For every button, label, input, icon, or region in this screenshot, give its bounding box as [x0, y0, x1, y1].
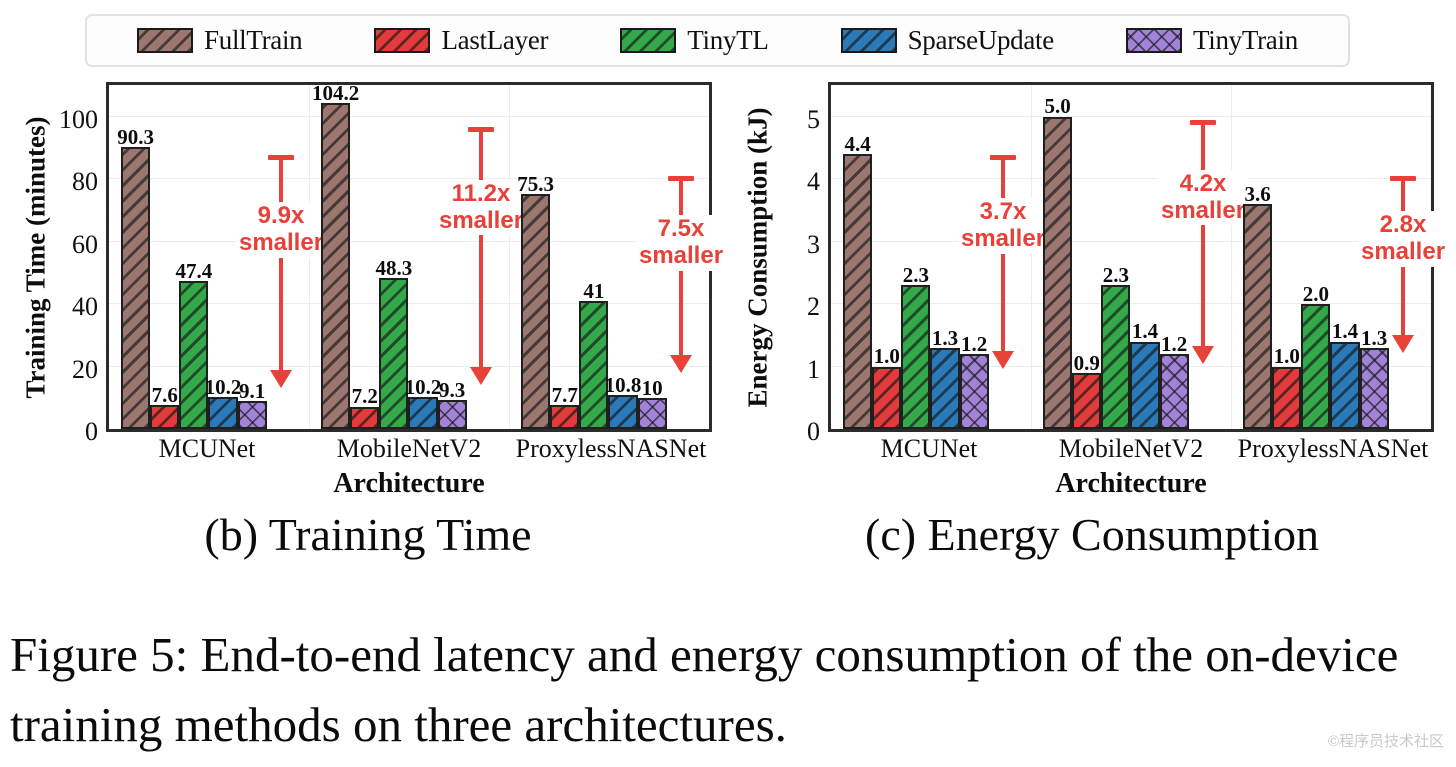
bar-sparseupdate-mobilenetv2[interactable]: 10.2	[408, 397, 437, 429]
annotation-arrowhead-icon	[670, 355, 692, 373]
x-axis-label-c: Architecture	[828, 468, 1434, 500]
x-tick-label-mcunet: MCUNet	[106, 434, 308, 468]
annotation-arrowhead-icon	[270, 370, 292, 388]
y-tick-label: 40	[72, 292, 98, 322]
bar-groups: 4.41.02.31.31.23.7xsmaller5.00.92.31.41.…	[831, 85, 1431, 429]
x-tick-label-mobilenetv2: MobileNetV2	[1030, 434, 1232, 468]
bar-lastlayer-mobilenetv2[interactable]: 0.9	[1072, 373, 1101, 429]
bar-value-label: 41	[583, 280, 604, 302]
bar-value-label: 9.1	[239, 380, 265, 402]
y-axis-label-text-b: Training Time (minutes)	[21, 116, 52, 398]
y-tick-label: 4	[807, 167, 820, 197]
annotation-arrowhead-icon	[992, 351, 1014, 369]
y-tick-label: 5	[807, 105, 820, 135]
annotation-factor: 2.8x	[1361, 212, 1445, 239]
y-tick-label: 80	[72, 167, 98, 197]
legend-label: LastLayer	[441, 25, 548, 56]
bar-tinytl-proxylessnasnet[interactable]: 41	[579, 301, 608, 429]
bar-value-label: 2.0	[1303, 283, 1329, 305]
legend-swatch-icon-tinytrain	[1126, 28, 1182, 53]
legend-item-tinytrain[interactable]: TinyTrain	[1126, 25, 1298, 56]
bar-value-label: 1.3	[932, 327, 958, 349]
bar-tinytrain-proxylessnasnet[interactable]: 1.3	[1360, 348, 1389, 429]
bar-lastlayer-proxylessnasnet[interactable]: 1.0	[1272, 367, 1301, 430]
bar-fulltrain-mcunet[interactable]: 4.4	[843, 154, 872, 429]
bar-tinytl-proxylessnasnet[interactable]: 2.0	[1301, 304, 1330, 429]
annotation-stem	[479, 127, 483, 367]
bar-value-label: 47.4	[175, 260, 212, 282]
annotation-factor: 7.5x	[639, 216, 723, 243]
bar-tinytrain-proxylessnasnet[interactable]: 10	[638, 398, 667, 429]
annotation-cap-icon	[990, 155, 1016, 160]
bar-tinytl-mobilenetv2[interactable]: 48.3	[379, 278, 408, 429]
bar-value-label: 4.4	[844, 133, 870, 155]
bar-value-label: 10.8	[605, 374, 642, 396]
x-axis-ticks-b: MCUNetMobileNetV2ProxylessNASNet	[106, 434, 712, 468]
x-axis-label-b: Architecture	[106, 468, 712, 500]
bar-sparseupdate-mcunet[interactable]: 1.3	[930, 348, 959, 429]
x-tick-label-mobilenetv2: MobileNetV2	[308, 434, 510, 468]
annotation-word: smaller	[1361, 239, 1445, 266]
bar-group-proxylessnasnet: 75.37.74110.8107.5xsmaller	[509, 85, 709, 429]
bar-sparseupdate-mobilenetv2[interactable]: 1.4	[1130, 342, 1159, 430]
legend-label: TinyTL	[687, 25, 768, 56]
annotation-word: smaller	[639, 243, 723, 270]
bar-group-mobilenetv2: 104.27.248.310.29.311.2xsmaller	[309, 85, 509, 429]
y-tick-label: 3	[807, 230, 820, 260]
bar-value-label: 1.2	[1161, 333, 1187, 355]
bar-tinytrain-mobilenetv2[interactable]: 1.2	[1160, 354, 1189, 429]
y-tick-label: 60	[72, 230, 98, 260]
bar-lastlayer-mcunet[interactable]: 1.0	[872, 367, 901, 430]
annotation-arrowhead-icon	[1192, 346, 1214, 364]
bar-value-label: 1.4	[1132, 320, 1158, 342]
legend-item-fulltrain[interactable]: FullTrain	[137, 25, 302, 56]
bar-tinytl-mcunet[interactable]: 2.3	[901, 285, 930, 429]
bar-sparseupdate-proxylessnasnet[interactable]: 10.8	[608, 395, 637, 429]
bar-value-label: 0.9	[1074, 352, 1100, 374]
bar-tinytrain-mobilenetv2[interactable]: 9.3	[438, 400, 467, 429]
bar-value-label: 9.3	[439, 379, 465, 401]
bar-lastlayer-mcunet[interactable]: 7.6	[150, 405, 179, 429]
legend-label: FullTrain	[204, 25, 302, 56]
y-axis-label-b: Training Time (minutes)	[18, 82, 54, 432]
y-axis-label-c: Energy Consumption (kJ)	[740, 82, 776, 432]
x-tick-label-mcunet: MCUNet	[828, 434, 1030, 468]
bar-value-label: 10	[642, 377, 663, 399]
y-axis-ticks-c: 012345	[776, 82, 826, 432]
x-tick-label-proxylessnasnet: ProxylessNASNet	[1232, 434, 1434, 468]
figure-5: FullTrainLastLayerTinyTLSparseUpdateTiny…	[0, 0, 1456, 767]
annotation-cap-icon	[468, 127, 494, 132]
legend-item-lastlayer[interactable]: LastLayer	[374, 25, 548, 56]
annotation-cap-icon	[1390, 176, 1416, 181]
legend-swatch-icon-lastlayer	[374, 28, 430, 53]
plot-area-b: 90.37.647.410.29.19.9xsmaller104.27.248.…	[106, 82, 712, 432]
annotation-text: 7.5xsmaller	[636, 215, 726, 271]
bar-groups: 90.37.647.410.29.19.9xsmaller104.27.248.…	[109, 85, 709, 429]
subplot-caption-b: (b) Training Time	[18, 508, 718, 561]
x-axis-ticks-c: MCUNetMobileNetV2ProxylessNASNet	[828, 434, 1434, 468]
bar-fulltrain-mobilenetv2[interactable]: 5.0	[1043, 117, 1072, 430]
annotation-arrowhead-icon	[470, 367, 492, 385]
bar-value-label: 10.2	[405, 376, 442, 398]
chart-legend: FullTrainLastLayerTinyTLSparseUpdateTiny…	[85, 14, 1350, 67]
bar-group-mcunet: 4.41.02.31.31.23.7xsmaller	[831, 85, 1031, 429]
y-tick-label: 1	[807, 355, 820, 385]
bar-value-label: 2.3	[1103, 264, 1129, 286]
annotation-text: 2.8xsmaller	[1358, 211, 1448, 267]
bar-value-label: 7.7	[552, 384, 578, 406]
bar-fulltrain-mobilenetv2[interactable]: 104.2	[321, 103, 350, 429]
annotation-stem	[1201, 120, 1205, 346]
bar-fulltrain-proxylessnasnet[interactable]: 75.3	[521, 194, 550, 429]
subplot-caption-c: (c) Energy Consumption	[742, 508, 1442, 561]
bar-value-label: 1.0	[1274, 345, 1300, 367]
bar-value-label: 7.6	[152, 384, 178, 406]
panel-energy-consumption: Energy Consumption (kJ) 012345 4.41.02.3…	[740, 82, 1440, 502]
bar-sparseupdate-mcunet[interactable]: 10.2	[208, 397, 237, 429]
bar-value-label: 1.0	[874, 345, 900, 367]
bar-value-label: 7.2	[352, 385, 378, 407]
bar-value-label: 1.3	[1361, 327, 1387, 349]
legend-swatch-icon-sparseupdate	[841, 28, 897, 53]
annotation-arrowhead-icon	[1392, 335, 1414, 353]
legend-item-sparseupdate[interactable]: SparseUpdate	[841, 25, 1054, 56]
bar-value-label: 1.4	[1332, 320, 1358, 342]
y-tick-label: 0	[807, 417, 820, 447]
watermark: ©程序员技术社区	[1328, 730, 1444, 751]
annotation-stem	[279, 155, 283, 370]
legend-label: SparseUpdate	[908, 25, 1054, 56]
y-tick-label: 20	[72, 355, 98, 385]
plot-area-c: 4.41.02.31.31.23.7xsmaller5.00.92.31.41.…	[828, 82, 1434, 432]
legend-swatch-icon-tinytl	[620, 28, 676, 53]
y-axis-ticks-b: 020406080100	[54, 82, 104, 432]
legend-label: TinyTrain	[1193, 25, 1298, 56]
annotation-cap-icon	[268, 155, 294, 160]
bar-group-proxylessnasnet: 3.61.02.01.41.32.8xsmaller	[1231, 85, 1431, 429]
bar-lastlayer-proxylessnasnet[interactable]: 7.7	[550, 405, 579, 429]
bar-group-mobilenetv2: 5.00.92.31.41.24.2xsmaller	[1031, 85, 1231, 429]
y-tick-label: 0	[85, 417, 98, 447]
figure-caption: Figure 5: End-to-end latency and energy …	[10, 620, 1450, 759]
bar-tinytl-mcunet[interactable]: 47.4	[179, 281, 208, 429]
bar-tinytrain-mcunet[interactable]: 9.1	[238, 401, 267, 429]
bar-value-label: 104.2	[312, 82, 359, 104]
annotation-cap-icon	[668, 176, 694, 181]
bar-fulltrain-proxylessnasnet[interactable]: 3.6	[1243, 204, 1272, 429]
bar-group-mcunet: 90.37.647.410.29.19.9xsmaller	[109, 85, 309, 429]
bar-value-label: 5.0	[1044, 95, 1070, 117]
panel-training-time: Training Time (minutes) 020406080100 90.…	[18, 82, 718, 502]
y-tick-label: 2	[807, 292, 820, 322]
bar-value-label: 10.2	[205, 376, 242, 398]
bar-tinytl-mobilenetv2[interactable]: 2.3	[1101, 285, 1130, 429]
bar-lastlayer-mobilenetv2[interactable]: 7.2	[350, 407, 379, 430]
bar-value-label: 3.6	[1244, 183, 1270, 205]
bar-fulltrain-mcunet[interactable]: 90.3	[121, 147, 150, 429]
bar-value-label: 48.3	[375, 257, 412, 279]
y-axis-label-text-c: Energy Consumption (kJ)	[743, 107, 774, 407]
bar-value-label: 1.2	[961, 333, 987, 355]
annotation-cap-icon	[1190, 120, 1216, 125]
bar-value-label: 2.3	[903, 264, 929, 286]
legend-swatch-icon-fulltrain	[137, 28, 193, 53]
x-tick-label-proxylessnasnet: ProxylessNASNet	[510, 434, 712, 468]
bar-sparseupdate-proxylessnasnet[interactable]: 1.4	[1330, 342, 1359, 430]
y-tick-label: 100	[59, 105, 98, 135]
bar-value-label: 75.3	[517, 173, 554, 195]
bar-value-label: 90.3	[117, 126, 154, 148]
bar-tinytrain-mcunet[interactable]: 1.2	[960, 354, 989, 429]
legend-item-tinytl[interactable]: TinyTL	[620, 25, 768, 56]
